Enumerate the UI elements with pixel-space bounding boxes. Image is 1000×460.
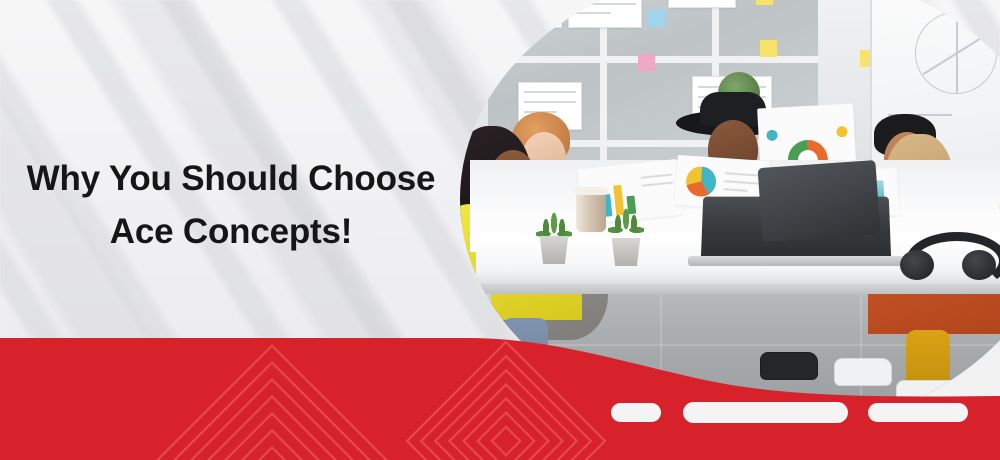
sticky-note xyxy=(760,40,777,57)
paper-line xyxy=(724,180,760,185)
coffee-cup xyxy=(576,192,606,232)
sticky-note xyxy=(648,10,665,27)
sticky-note xyxy=(756,0,773,5)
chart-dot xyxy=(836,126,848,138)
poster xyxy=(668,0,736,8)
team-photo-image xyxy=(460,0,1000,434)
tablet xyxy=(758,160,881,242)
sneaker xyxy=(834,358,892,386)
pill-medium[interactable] xyxy=(868,403,968,422)
meeting-table-edge xyxy=(476,284,1000,294)
page-title: Why You Should Choose Ace Concepts! xyxy=(0,152,462,258)
sneaker-dark xyxy=(760,352,818,380)
whiteboard-pie-sketch xyxy=(915,12,997,94)
plant-pot xyxy=(609,238,643,266)
succulent-plant xyxy=(606,206,652,266)
pill-short[interactable] xyxy=(611,403,661,422)
office-scene xyxy=(460,0,1000,434)
laptop-base xyxy=(688,256,904,266)
diamond-pattern-left xyxy=(148,346,397,460)
pill-long[interactable] xyxy=(683,402,848,423)
sneaker xyxy=(508,394,566,422)
paper-line xyxy=(724,188,748,192)
paper-line xyxy=(641,181,673,186)
plant-leaves xyxy=(608,206,644,236)
poster xyxy=(568,0,642,28)
plant-leaves xyxy=(536,210,572,240)
chart-dot xyxy=(766,130,778,142)
headphone-earcup xyxy=(962,250,996,280)
headphones xyxy=(900,232,996,280)
promo-banner: Why You Should Choose Ace Concepts! xyxy=(0,0,1000,460)
paper-line xyxy=(640,173,672,178)
sticky-note xyxy=(638,54,655,71)
table-leg xyxy=(482,294,491,390)
chart-donut xyxy=(685,166,717,198)
leg xyxy=(502,318,548,406)
succulent-plant xyxy=(534,210,574,264)
paper-line xyxy=(725,172,761,177)
headphone-earcup xyxy=(900,250,934,280)
poster xyxy=(494,0,562,28)
team-photo xyxy=(460,0,1000,434)
plant-pot xyxy=(537,236,571,264)
